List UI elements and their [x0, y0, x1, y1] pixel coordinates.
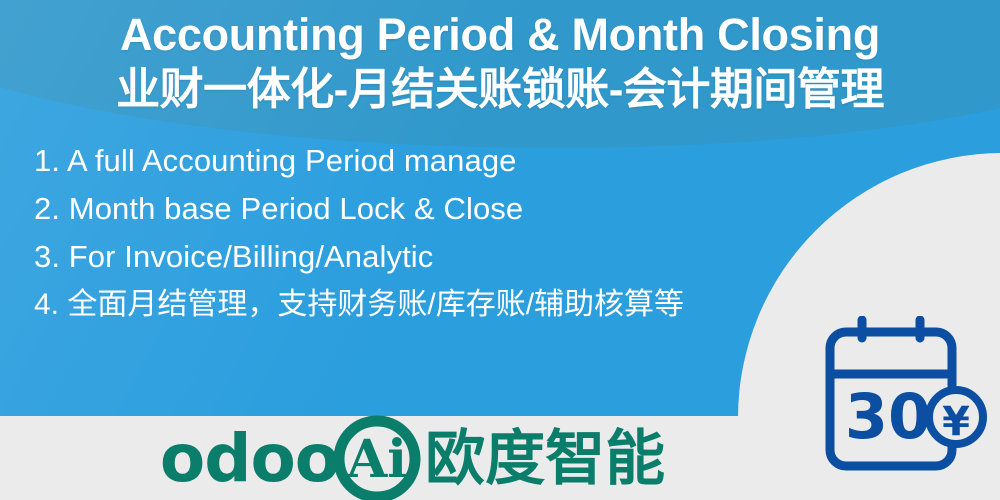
list-item: 3. For Invoice/Billing/Analytic	[34, 233, 834, 281]
page-subtitle: 业财一体化-月结关账锁账-会计期间管理	[0, 62, 1000, 118]
list-item: 1. A full Accounting Period manage	[34, 137, 834, 185]
svg-text:Ai: Ai	[346, 429, 407, 490]
feature-list: 1. A full Accounting Period manage 2. Mo…	[34, 137, 834, 329]
company-name-cn: 欧度智能	[425, 429, 665, 489]
list-item: 4. 全面月结管理，支持财务账/库存账/辅助核算等	[34, 281, 834, 329]
list-item: 2. Month base Period Lock & Close	[34, 185, 834, 233]
ai-badge-icon: Ai	[333, 415, 421, 500]
promo-banner: Accounting Period & Month Closing 业财一体化-…	[0, 0, 1000, 500]
brand-logo: odoo Ai 欧度智能	[0, 418, 1000, 500]
page-title: Accounting Period & Month Closing	[0, 6, 1000, 63]
brand-wordmark: odoo	[160, 426, 339, 492]
